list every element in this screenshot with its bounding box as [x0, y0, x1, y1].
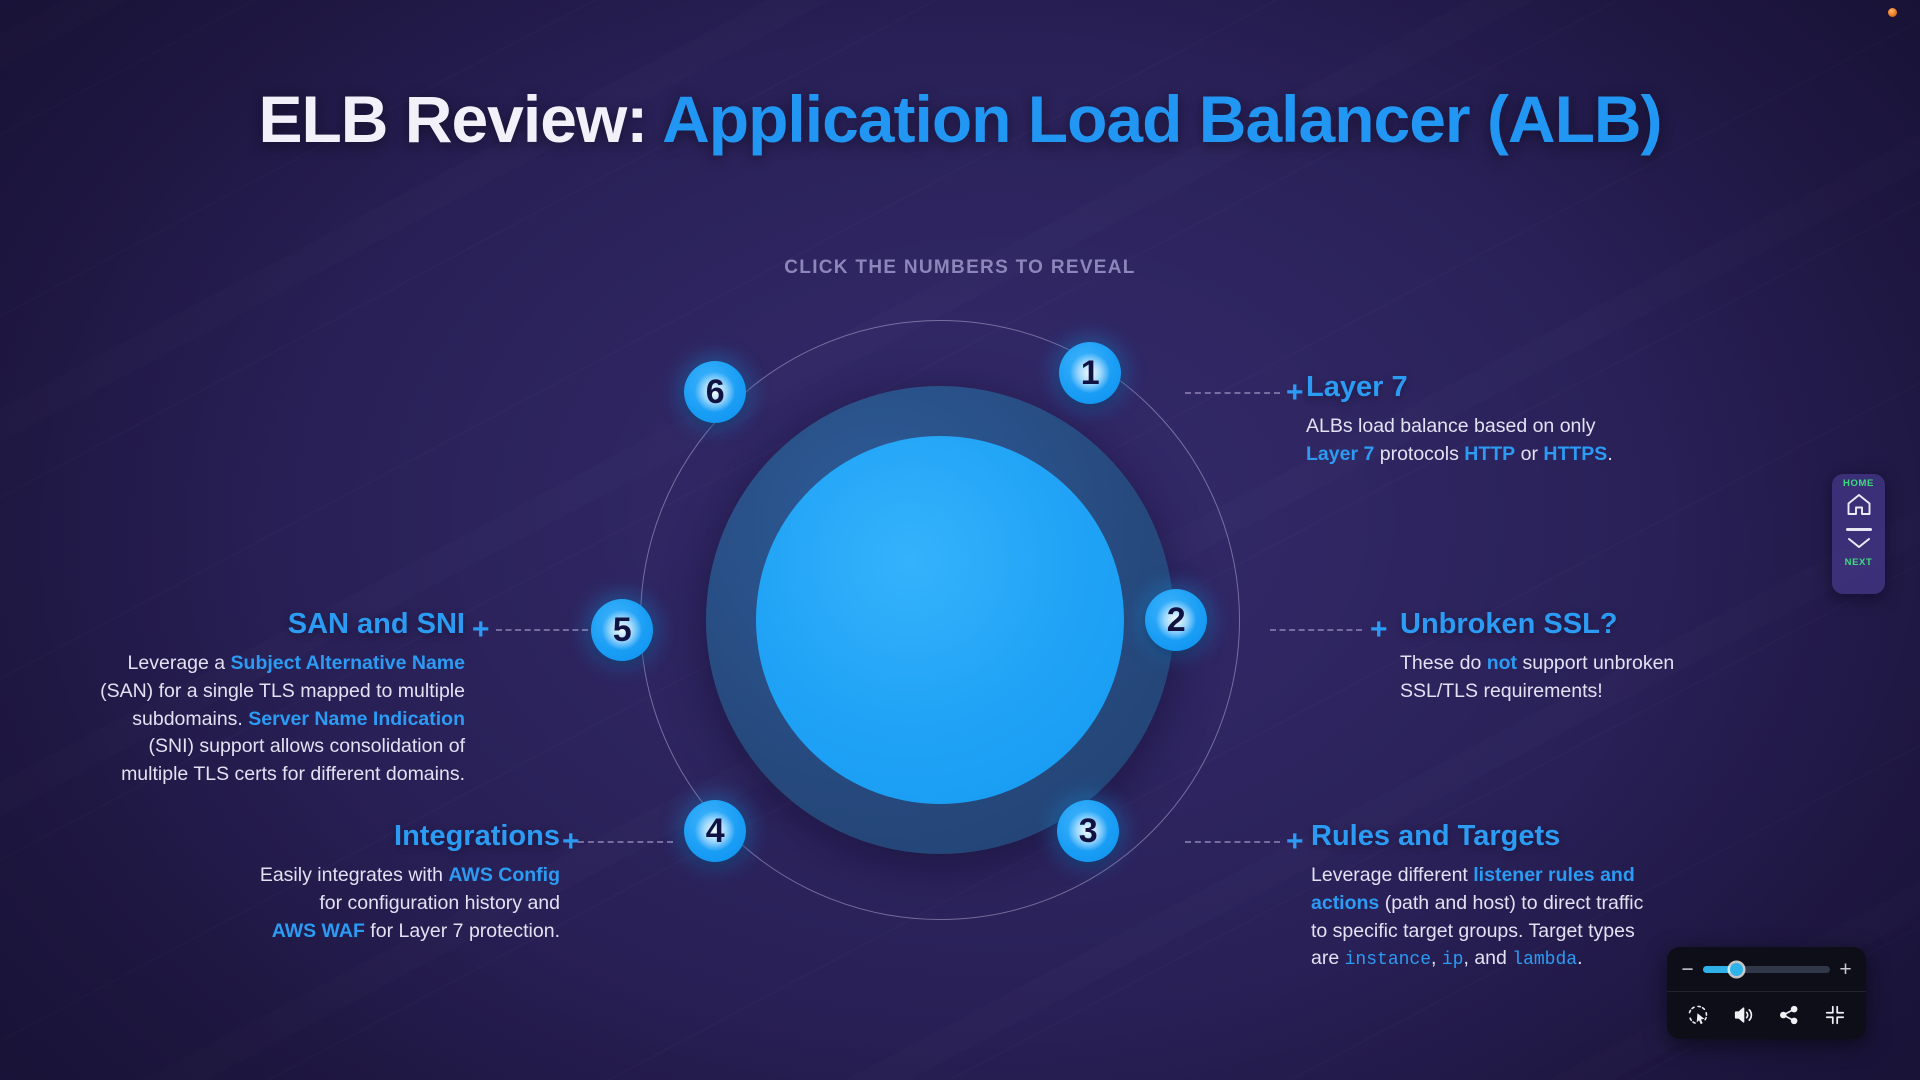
- page-subtitle: CLICK THE NUMBERS TO REVEAL: [0, 257, 1920, 279]
- expand-plus-1[interactable]: +: [1286, 378, 1304, 408]
- orange-speck: [1888, 8, 1897, 17]
- connector-dash-5: [496, 629, 588, 631]
- nav-divider: [1846, 528, 1872, 531]
- connector-dash-1: [1185, 392, 1280, 394]
- zoom-slider[interactable]: [1703, 966, 1830, 973]
- callout-5-body: Leverage a Subject Alternative Name (SAN…: [40, 650, 465, 788]
- center-disc-inner[interactable]: [756, 436, 1124, 804]
- cursor-select-icon[interactable]: [1683, 1000, 1713, 1030]
- wheel-number-6-label: 6: [706, 375, 724, 409]
- page-title-accent: Application Load Balancer (ALB): [662, 82, 1661, 156]
- wheel-number-2[interactable]: 2: [1145, 589, 1207, 651]
- callout-1-title: Layer 7: [1306, 371, 1676, 404]
- page-title-plain: ELB Review:: [258, 82, 662, 156]
- slide-canvas: ELB Review: Application Load Balancer (A…: [0, 0, 1920, 1080]
- callout-rules-and-targets: Rules and Targets Leverage different lis…: [1311, 820, 1706, 974]
- page-title: ELB Review: Application Load Balancer (A…: [0, 84, 1920, 155]
- home-label: HOME: [1843, 479, 1874, 489]
- home-icon[interactable]: [1846, 493, 1872, 521]
- expand-plus-3[interactable]: +: [1286, 827, 1304, 857]
- callout-3-title: Rules and Targets: [1311, 820, 1706, 853]
- chevron-down-icon[interactable]: [1846, 536, 1872, 555]
- wheel-number-1-label: 1: [1081, 356, 1099, 390]
- callout-5-title: SAN and SNI: [40, 608, 465, 641]
- expand-plus-4[interactable]: +: [562, 827, 580, 857]
- share-icon[interactable]: [1774, 1000, 1804, 1030]
- wheel-number-6[interactable]: 6: [684, 361, 746, 423]
- connector-dash-3: [1185, 841, 1280, 843]
- wheel-number-4[interactable]: 4: [684, 800, 746, 862]
- callout-2-body: These do not support unbroken SSL/TLS re…: [1400, 650, 1740, 705]
- wheel-number-4-label: 4: [706, 814, 724, 848]
- wheel-number-2-label: 2: [1167, 603, 1185, 637]
- wheel-number-5-label: 5: [613, 613, 631, 647]
- connector-dash-4: [578, 841, 673, 843]
- interactive-wheel: 1 2 3 4 5 6: [620, 300, 1260, 940]
- callout-1-body: ALBs load balance based on only Layer 7 …: [1306, 413, 1676, 468]
- wheel-number-3[interactable]: 3: [1057, 800, 1119, 862]
- expand-plus-5[interactable]: +: [472, 615, 490, 645]
- zoom-row: − +: [1667, 947, 1866, 992]
- callout-2-title: Unbroken SSL?: [1400, 608, 1740, 641]
- callout-san-and-sni: SAN and SNI Leverage a Subject Alternati…: [40, 608, 465, 789]
- callout-3-body: Leverage different listener rules and ac…: [1311, 862, 1706, 974]
- player-control-bar: − +: [1667, 947, 1866, 1039]
- expand-plus-2[interactable]: +: [1370, 615, 1388, 645]
- volume-icon[interactable]: [1729, 1000, 1759, 1030]
- zoom-out-button[interactable]: −: [1680, 959, 1695, 980]
- callout-integrations: Integrations Easily integrates with AWS …: [170, 820, 560, 945]
- zoom-slider-handle[interactable]: [1730, 963, 1743, 976]
- next-label: NEXT: [1845, 558, 1873, 568]
- wheel-number-1[interactable]: 1: [1059, 342, 1121, 404]
- callout-4-body: Easily integrates with AWS Config for co…: [170, 862, 560, 945]
- callout-4-title: Integrations: [170, 820, 560, 853]
- wheel-number-5[interactable]: 5: [591, 599, 653, 661]
- collapse-icon[interactable]: [1820, 1000, 1850, 1030]
- connector-dash-2: [1270, 629, 1362, 631]
- wheel-number-3-label: 3: [1079, 814, 1097, 848]
- zoom-in-button[interactable]: +: [1838, 959, 1853, 980]
- tool-row: [1667, 992, 1866, 1038]
- side-navigation: HOME NEXT: [1832, 474, 1885, 594]
- callout-unbroken-ssl: Unbroken SSL? These do not support unbro…: [1400, 608, 1740, 706]
- callout-layer-7: Layer 7 ALBs load balance based on only …: [1306, 371, 1676, 469]
